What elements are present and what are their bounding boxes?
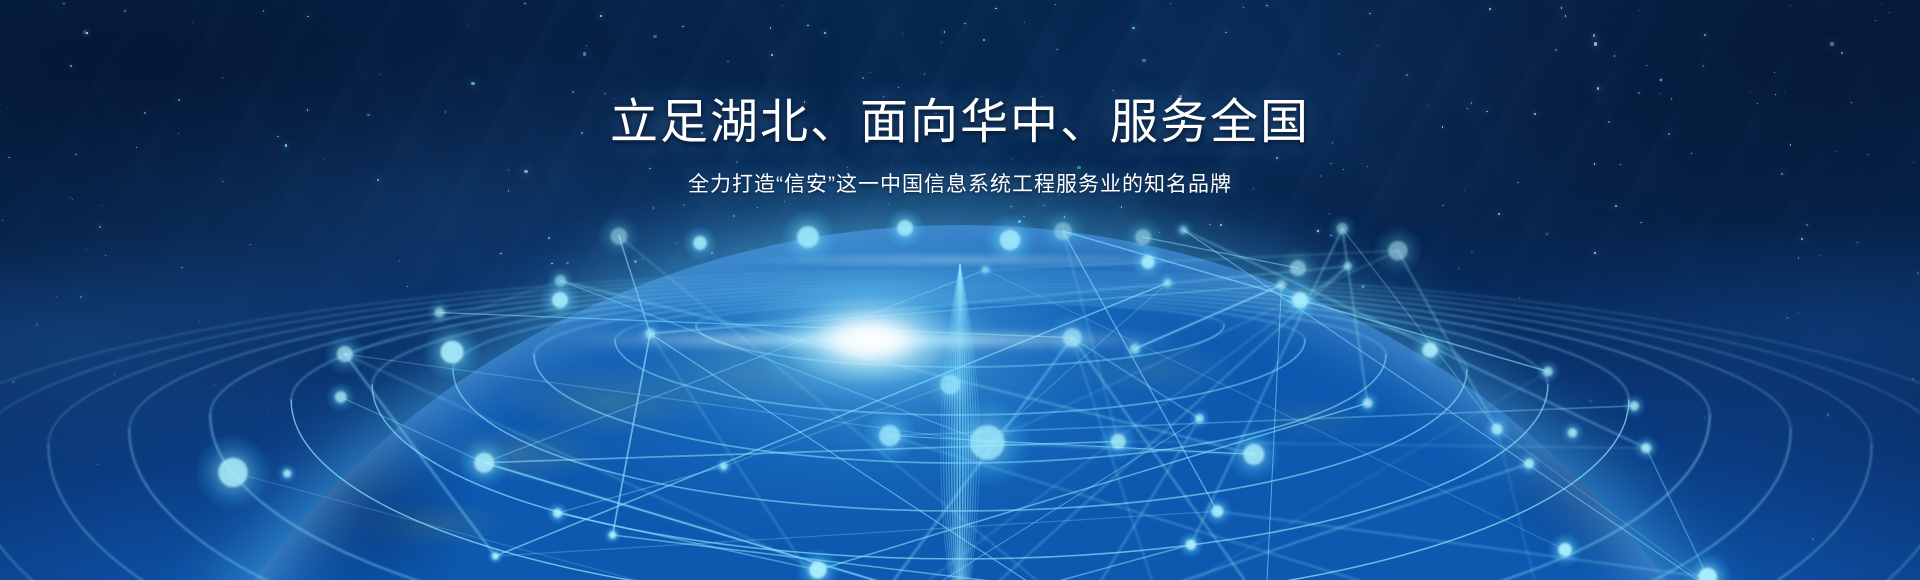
mesh-node xyxy=(1290,260,1306,276)
mesh-node xyxy=(492,553,498,559)
hero-banner: 立足湖北、面向华中、服务全国 全力打造“信安”这一中国信息系统工程服务业的知名品… xyxy=(0,0,1920,580)
mesh-node xyxy=(218,458,247,487)
banner-copy: 立足湖北、面向华中、服务全国 全力打造“信安”这一中国信息系统工程服务业的知名品… xyxy=(0,96,1920,197)
mesh-node xyxy=(1558,543,1571,556)
mesh-line xyxy=(1398,251,1497,429)
mesh-node xyxy=(1363,398,1373,408)
mesh-node xyxy=(1524,459,1534,469)
mesh-node xyxy=(809,562,826,579)
mesh-node xyxy=(441,341,464,364)
mesh-node xyxy=(1492,424,1503,435)
center-flare-core xyxy=(740,275,1000,405)
mesh-node xyxy=(435,308,445,318)
mesh-node xyxy=(1641,443,1651,453)
banner-headline: 立足湖北、面向华中、服务全国 xyxy=(0,96,1920,150)
banner-subheadline: 全力打造“信安”这一中国信息系统工程服务业的知名品牌 xyxy=(0,172,1920,197)
mesh-node xyxy=(1630,401,1639,410)
mesh-node xyxy=(284,470,291,477)
mesh-line xyxy=(1497,429,1549,580)
mesh-node xyxy=(337,346,353,362)
mesh-node xyxy=(1292,292,1308,308)
mesh-node xyxy=(1568,428,1577,437)
mesh-node xyxy=(1344,262,1352,270)
mesh-node xyxy=(335,391,347,403)
mesh-node xyxy=(1337,223,1348,234)
mesh-node xyxy=(1423,343,1438,358)
mesh-node xyxy=(1388,241,1407,260)
mesh-node xyxy=(1543,367,1552,376)
